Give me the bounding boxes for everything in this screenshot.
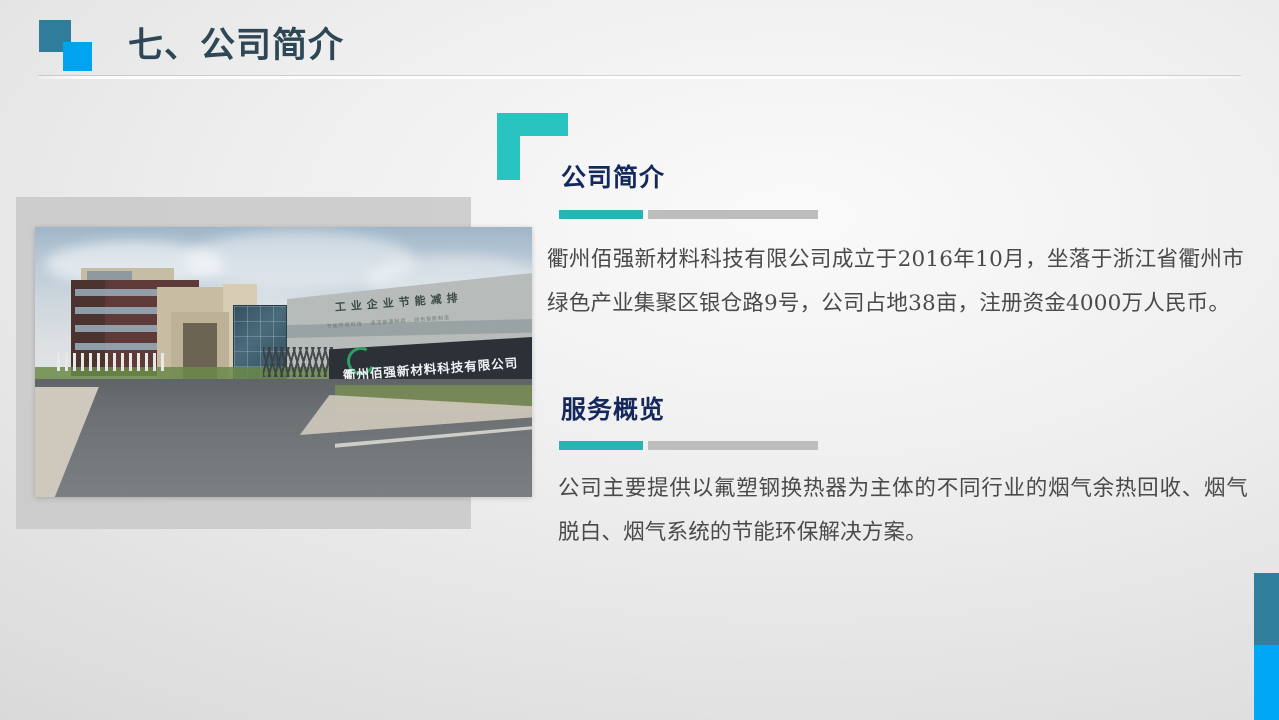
section-body-company-intro: 衢州佰强新材料科技有限公司成立于2016年10月，坐落于浙江省衢州市绿色产业集聚… xyxy=(547,238,1244,326)
corner-accent-strip xyxy=(1254,573,1279,720)
slide-canvas: 七、公司简介 工业企业节能减排 节能环保科技 · 清洁能源利用 · 绿色智能制造 xyxy=(0,0,1279,720)
accent-strip-top xyxy=(1254,573,1279,645)
slide-content: 公司简介 衢州佰强新材料科技有限公司成立于2016年10月，坐落于浙江省衢州市绿… xyxy=(0,0,1279,720)
divider-muted-segment xyxy=(648,441,818,450)
section-heading-company-intro: 公司简介 xyxy=(561,158,665,194)
divider-accent-segment xyxy=(559,441,643,450)
divider-muted-segment xyxy=(648,210,818,219)
divider-accent-segment xyxy=(559,210,643,219)
section-heading-service-overview: 服务概览 xyxy=(561,390,665,426)
section-divider-company-intro xyxy=(559,210,818,219)
section-body-service-overview: 公司主要提供以氟塑钢换热器为主体的不同行业的烟气余热回收、烟气脱白、烟气系统的节… xyxy=(558,467,1248,555)
corner-bracket-vertical xyxy=(497,113,520,180)
section-divider-service-overview xyxy=(559,441,818,450)
accent-strip-bottom xyxy=(1254,645,1279,720)
corner-bracket-icon xyxy=(497,113,568,180)
